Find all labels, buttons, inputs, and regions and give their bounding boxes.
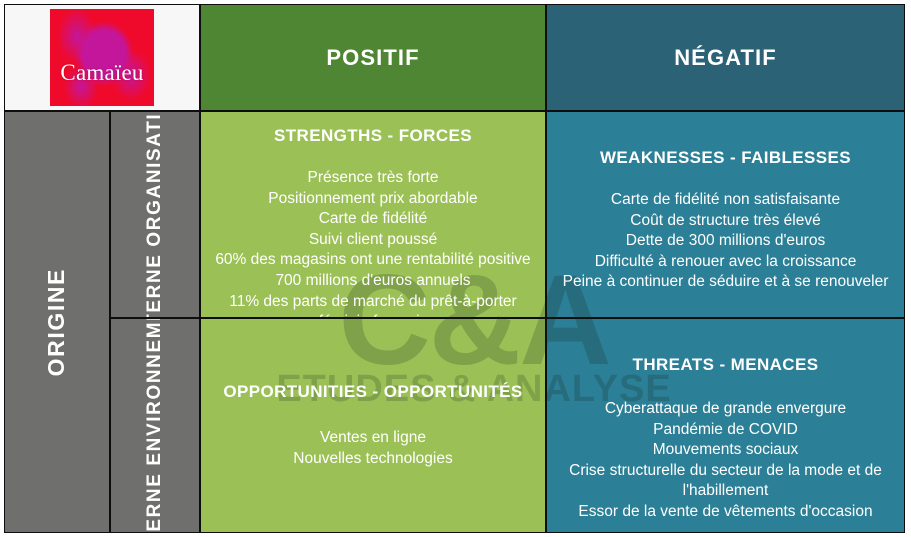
quadrant-threats-list: Cyberattaque de grande envergurePandémie…	[555, 399, 896, 523]
header-negative-label: NÉGATIF	[674, 45, 777, 71]
list-item: 700 millions d'euros annuels	[209, 271, 537, 292]
quadrant-strengths-title: STRENGTHS - FORCES	[274, 126, 472, 146]
list-item: Cyberattaque de grande envergure	[555, 399, 896, 420]
quadrant-opportunities-title: OPPORTUNITIES - OPPORTUNITÉS	[223, 382, 522, 402]
list-item: 60% des magasins ont une rentabilité pos…	[209, 250, 537, 271]
quadrant-opportunities: OPPORTUNITIES - OPPORTUNITÉS Ventes en l…	[200, 318, 546, 533]
camaieu-logo: Camaïeu	[50, 9, 154, 106]
swot-matrix: Camaïeu POSITIF NÉGATIF ORIGINE INTERNE …	[0, 0, 911, 537]
list-item: Crise structurelle du secteur de la mode…	[555, 461, 896, 502]
list-item: Suivi client poussé	[209, 230, 537, 251]
list-item: Carte de fidélité	[209, 209, 537, 230]
list-item: Présence très forte	[209, 168, 537, 189]
axis-external-label: EXTERNE ENVIRONNEMENT	[143, 318, 167, 533]
list-item: Ventes en ligne	[293, 428, 452, 449]
header-positive: POSITIF	[200, 4, 546, 111]
header-negative: NÉGATIF	[546, 4, 905, 111]
axis-origin: ORIGINE	[4, 111, 110, 533]
list-item: Difficulté à renouer avec la croissance	[563, 252, 889, 273]
list-item: Nouvelles technologies	[293, 449, 452, 470]
list-item: Carte de fidélité non satisfaisante	[563, 190, 889, 211]
list-item: Positionnement prix abordable	[209, 189, 537, 210]
quadrant-threats-title: THREATS - MENACES	[633, 355, 819, 375]
logo-wordmark: Camaïeu	[60, 60, 143, 86]
list-item: Peine à continuer de séduire et à se ren…	[563, 272, 889, 293]
quadrant-opportunities-list: Ventes en ligneNouvelles technologies	[293, 428, 452, 469]
list-item: 11% des parts de marché du prêt-à-porter…	[209, 292, 537, 318]
logo-cell: Camaïeu	[4, 4, 200, 111]
header-positive-label: POSITIF	[326, 45, 419, 71]
quadrant-weaknesses-title: WEAKNESSES - FAIBLESSES	[600, 148, 851, 168]
list-item: Mouvements sociaux	[555, 440, 896, 461]
axis-external: EXTERNE ENVIRONNEMENT	[110, 318, 200, 533]
quadrant-weaknesses: WEAKNESSES - FAIBLESSES Carte de fidélit…	[546, 111, 905, 318]
swot-grid: Camaïeu POSITIF NÉGATIF ORIGINE INTERNE …	[4, 4, 905, 535]
list-item: Dette de 300 millions d'euros	[563, 231, 889, 252]
axis-internal: INTERNE ORGANISATION	[110, 111, 200, 318]
quadrant-strengths-list: Présence très fortePositionnement prix a…	[209, 168, 537, 318]
quadrant-threats: THREATS - MENACES Cyberattaque de grande…	[546, 318, 905, 533]
axis-origin-label: ORIGINE	[42, 268, 71, 376]
list-item: Coût de structure très élevé	[563, 211, 889, 232]
quadrant-weaknesses-list: Carte de fidélité non satisfaisanteCoût …	[563, 190, 889, 293]
list-item: Pandémie de COVID	[555, 420, 896, 441]
list-item: Essor de la vente de vêtements d'occasio…	[555, 502, 896, 523]
quadrant-strengths: STRENGTHS - FORCES Présence très fortePo…	[200, 111, 546, 318]
axis-internal-label: INTERNE ORGANISATION	[143, 111, 167, 318]
